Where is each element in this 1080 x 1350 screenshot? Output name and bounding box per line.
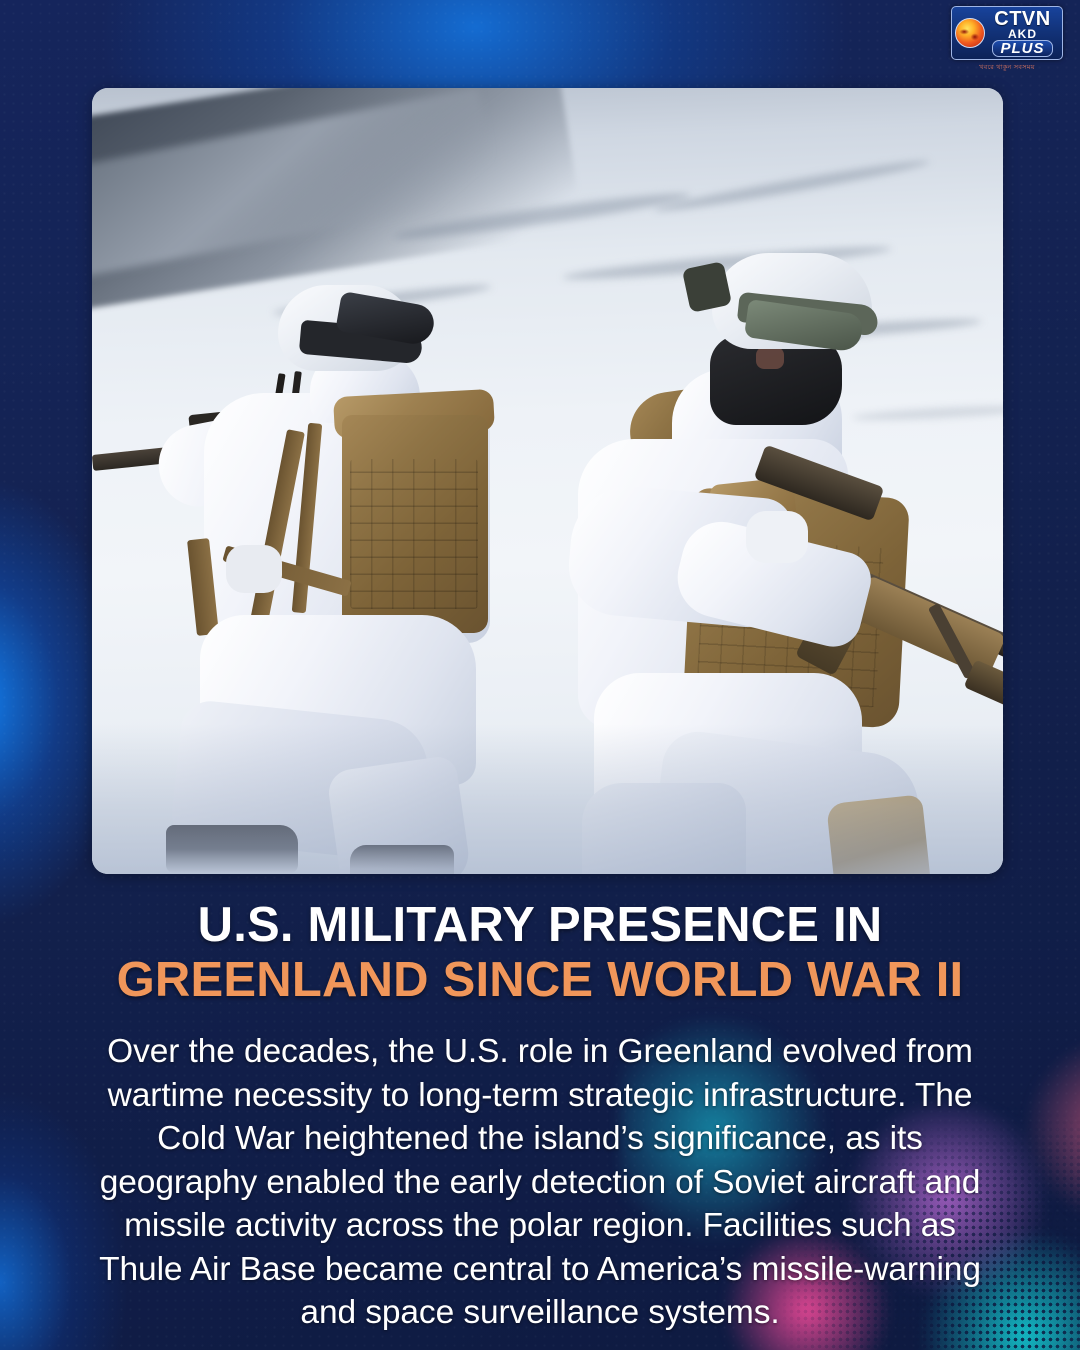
logo-tagline: খবরে থাকুন সবসময় xyxy=(979,62,1035,73)
headline: U.S. MILITARY PRESENCE IN GREENLAND SINC… xyxy=(0,898,1080,1008)
soldier-right-hand xyxy=(746,511,808,563)
soldier-right-helmet-nvg-mount xyxy=(682,261,732,313)
channel-logo[interactable]: CTVN AKD PLUS খবরে থাকুন সবসময় xyxy=(948,6,1066,74)
logo-wordmark: CTVN AKD PLUS xyxy=(986,9,1059,57)
body-paragraph: Over the decades, the U.S. role in Green… xyxy=(48,1030,1032,1335)
logo-text-plus: PLUS xyxy=(992,40,1052,57)
logo-text-akd: AKD xyxy=(1008,28,1037,40)
globe-flame-icon xyxy=(955,18,985,48)
social-media-poster: CTVN AKD PLUS খবরে থাকুন সবসময় xyxy=(0,0,1080,1350)
logo-plate: CTVN AKD PLUS xyxy=(951,6,1063,60)
logo-text-ctvn: CTVN xyxy=(994,9,1050,29)
photo-foreground-snow-shadow xyxy=(92,724,1003,874)
soldier-right-face-detail xyxy=(756,347,784,369)
soldier-left-molle-webbing xyxy=(350,459,478,609)
hero-photo xyxy=(92,88,1003,874)
headline-line-1: U.S. MILITARY PRESENCE IN xyxy=(0,898,1080,953)
headline-line-2: GREENLAND SINCE WORLD WAR II xyxy=(0,953,1080,1008)
soldier-left-hand xyxy=(226,545,282,593)
